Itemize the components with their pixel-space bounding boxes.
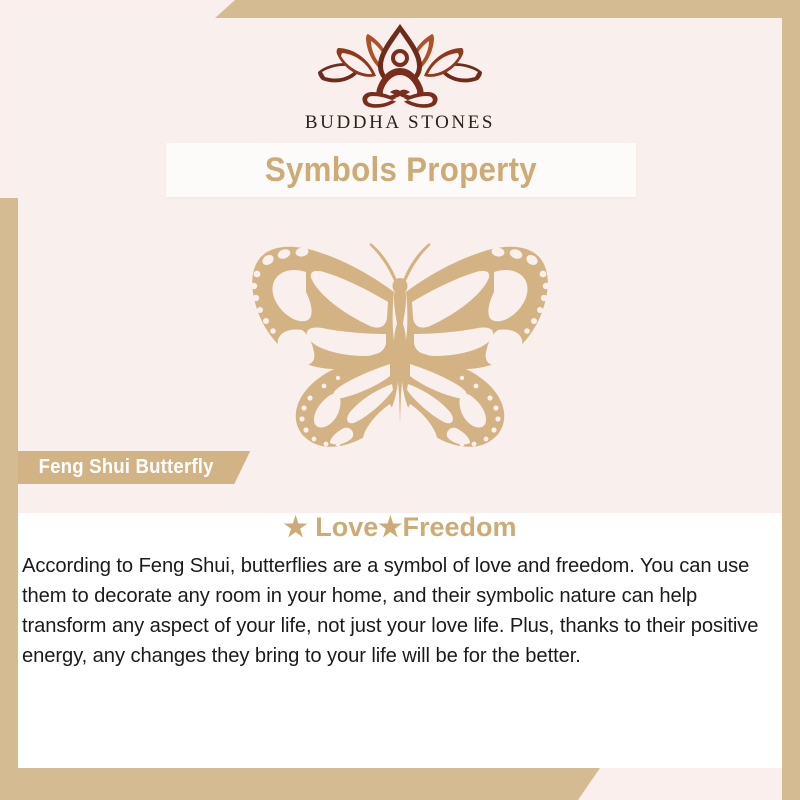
frame-band-bottom (0, 768, 600, 800)
section-ribbon: Feng Shui Butterfly (18, 451, 250, 484)
page-title-card: Symbols Property (166, 143, 636, 197)
brand-logo: BUDDHA STONES (0, 22, 800, 134)
section-ribbon-label: Feng Shui Butterfly (39, 456, 214, 479)
symbols-property-infographic: BUDDHA STONES Symbols Property (0, 0, 800, 800)
lotus-meditation-icon (312, 22, 488, 110)
description-paragraph: According to Feng Shui, butterflies are … (22, 551, 771, 671)
butterfly-icon (220, 228, 580, 448)
frame-band-top (215, 0, 800, 18)
tagline: ★ Love★Freedom (0, 512, 800, 543)
brand-wordmark: BUDDHA STONES (0, 112, 800, 134)
page-title: Symbols Property (265, 151, 537, 190)
hero-illustration (0, 228, 800, 453)
